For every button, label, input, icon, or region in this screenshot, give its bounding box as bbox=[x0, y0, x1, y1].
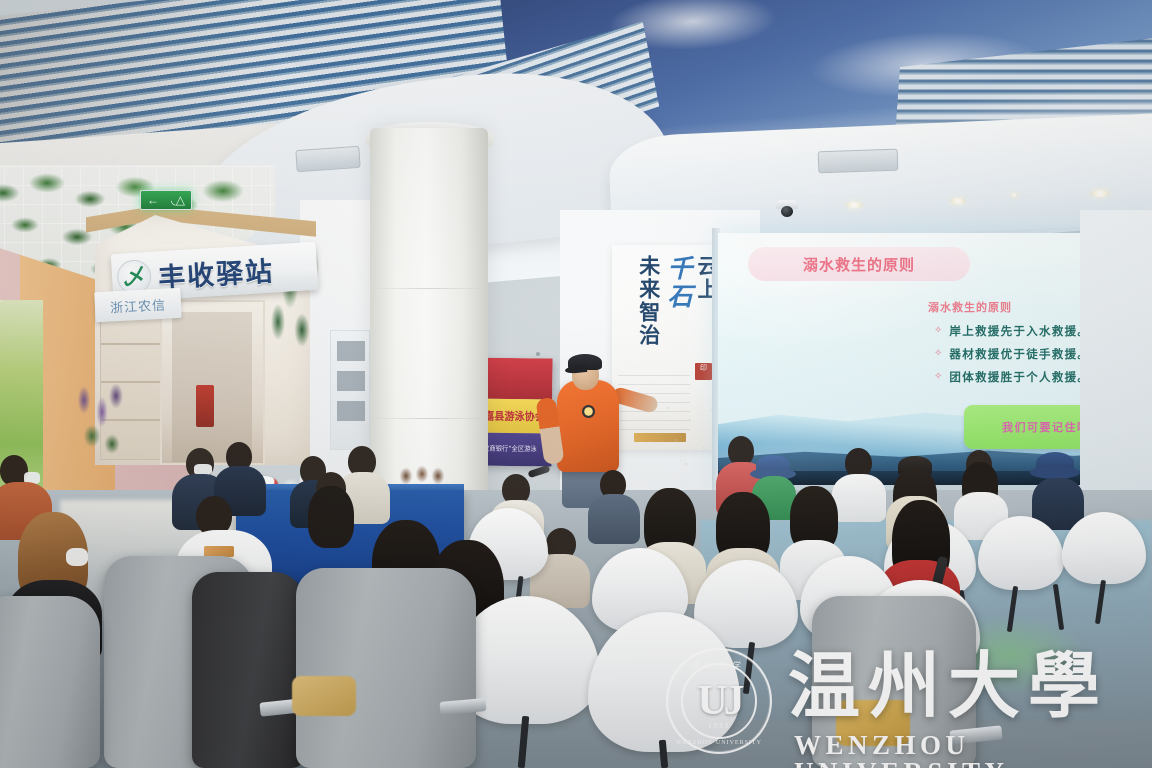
kiosk-sub-plate: 浙江农信 bbox=[94, 288, 181, 322]
banner-column-brush: 千石 bbox=[665, 255, 691, 347]
poster-thumbnail bbox=[337, 341, 365, 361]
slide-bullet-text: 器材救援优于徒手救援。 bbox=[949, 347, 1090, 361]
exit-arrow-icon: ← bbox=[147, 194, 159, 206]
photograph-canvas: 乄 丰收驿站 浙江农信 ← ◟△ 云上 千石 未来智治 印 永嘉县游泳协会 bbox=[0, 0, 1152, 768]
kiosk-red-panel bbox=[196, 385, 214, 427]
chair-dark bbox=[192, 572, 304, 768]
slide-bullet-text: 岸上救援先于入水救援。 bbox=[949, 324, 1090, 338]
chair-grey bbox=[296, 568, 476, 768]
downlight bbox=[950, 198, 966, 204]
poster-thumbnail bbox=[337, 401, 365, 421]
microphone-icon bbox=[527, 465, 550, 478]
hair bbox=[308, 486, 354, 548]
info-poster bbox=[330, 330, 370, 450]
torso bbox=[588, 494, 640, 544]
bag-on-floor bbox=[292, 676, 356, 716]
right-wall bbox=[1080, 210, 1152, 510]
column-seam bbox=[370, 288, 488, 289]
slide-title-pill: 溺水救生的原则 bbox=[748, 247, 970, 281]
downlight bbox=[845, 202, 863, 208]
presenter-shirt-badge bbox=[582, 405, 595, 418]
bag-on-floor bbox=[836, 700, 910, 746]
banner-column-left: 未来智治 bbox=[638, 255, 660, 347]
downlight bbox=[1090, 190, 1110, 197]
cctv-camera-icon bbox=[781, 206, 793, 217]
torso bbox=[832, 474, 886, 522]
purple-flower-plant bbox=[68, 370, 130, 465]
kiosk-logo-glyph: 乄 bbox=[123, 266, 146, 288]
chair-grey bbox=[0, 596, 100, 768]
bullet-marker-icon: ✧ bbox=[934, 347, 942, 361]
air-vent bbox=[818, 149, 899, 174]
air-vent bbox=[295, 146, 360, 172]
shelf-divider bbox=[101, 343, 161, 345]
running-man-icon: ◟△ bbox=[171, 194, 185, 206]
banner-seal-stamp: 印 bbox=[695, 363, 712, 380]
face-mask bbox=[66, 548, 88, 566]
emergency-exit-sign: ← ◟△ bbox=[140, 190, 192, 210]
downlight bbox=[1010, 193, 1018, 197]
flag-pin bbox=[536, 352, 540, 356]
poster-thumbnail bbox=[337, 371, 365, 391]
flag-sub-text: “农商银行”全区游泳 bbox=[480, 444, 537, 455]
slide-title-text: 溺水救生的原则 bbox=[803, 254, 915, 275]
kiosk-sub-text: 浙江农信 bbox=[110, 294, 167, 316]
presenter-shirt bbox=[557, 380, 619, 472]
bullet-marker-icon: ✧ bbox=[934, 324, 942, 338]
slide-bullet-text: 团体救援胜于个人救援。 bbox=[949, 370, 1090, 384]
column-seam bbox=[370, 418, 488, 419]
bullet-marker-icon: ✧ bbox=[934, 370, 942, 384]
banner-columns: 云上 千石 未来智治 bbox=[638, 255, 718, 347]
